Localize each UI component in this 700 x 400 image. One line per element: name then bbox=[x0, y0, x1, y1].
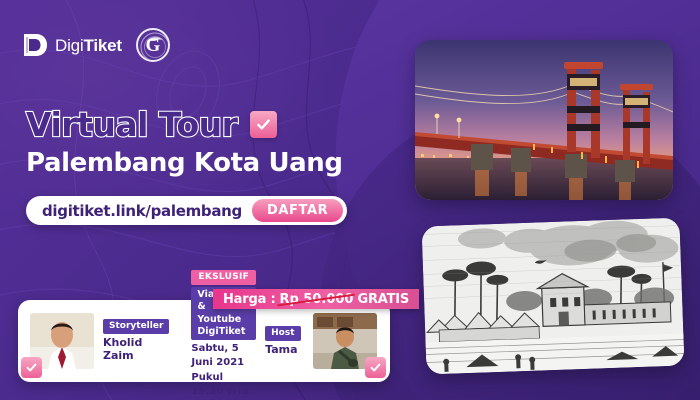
price-new-value: GRATIS bbox=[357, 292, 409, 307]
headline-subtitle: Palembang Kota Uang bbox=[26, 150, 386, 176]
palembang-city-emblem-icon: G bbox=[136, 28, 170, 62]
headline-block: Virtual Tour Palembang Kota Uang bbox=[26, 108, 386, 176]
event-time: Pukul 15.30 WIB - selesai bbox=[191, 371, 256, 400]
registration-url-text: digitiket.link/palembang bbox=[42, 202, 242, 220]
storyteller-role-tag: Storyteller bbox=[103, 319, 169, 334]
event-date: Sabtu, 5 Juni 2021 bbox=[191, 342, 256, 369]
check-icon bbox=[250, 111, 277, 138]
digitiket-wordmark: DigiTiket bbox=[55, 37, 122, 54]
daftar-button[interactable]: DAFTAR bbox=[252, 199, 343, 222]
storyteller-photo-wrap bbox=[30, 313, 94, 369]
storyteller-check-icon bbox=[21, 357, 42, 378]
exclusive-tag: EKSLUSIF bbox=[191, 270, 256, 285]
registration-url-pill[interactable]: digitiket.link/palembang DAFTAR bbox=[26, 196, 347, 225]
palembang-engraving-photo bbox=[421, 218, 684, 375]
event-info-card: Storyteller Kholid Zaim EKSLUSIF Via ZOO… bbox=[18, 300, 390, 382]
price-ribbon: Harga : Rp 50.000 GRATIS bbox=[213, 289, 419, 309]
host-name: Tama bbox=[265, 343, 300, 356]
storyteller-info: Storyteller Kholid Zaim bbox=[103, 319, 169, 362]
price-label: Harga : bbox=[223, 292, 275, 307]
digitiket-logo: DigiTiket bbox=[22, 32, 122, 58]
headline-line-1-row: Virtual Tour bbox=[26, 108, 386, 141]
host-info: Host Tama bbox=[265, 326, 300, 356]
host-block: Host Tama bbox=[256, 313, 376, 369]
logo-prefix: Digi bbox=[55, 36, 84, 55]
digitiket-mark-icon bbox=[22, 32, 48, 58]
ampera-bridge-photo bbox=[415, 40, 673, 200]
logo-row: DigiTiket G bbox=[22, 28, 170, 62]
host-role-tag: Host bbox=[265, 326, 300, 341]
host-photo-wrap bbox=[313, 313, 377, 369]
host-check-icon bbox=[365, 357, 386, 378]
price-old-value: Rp 50.000 bbox=[279, 292, 353, 307]
storyteller-name: Kholid Zaim bbox=[103, 336, 169, 362]
logo-suffix: Tiket bbox=[84, 36, 122, 55]
promo-banner: DigiTiket G Virtual Tour Palembang Kota … bbox=[0, 0, 700, 400]
headline-virtual-tour: Virtual Tour bbox=[26, 108, 237, 141]
